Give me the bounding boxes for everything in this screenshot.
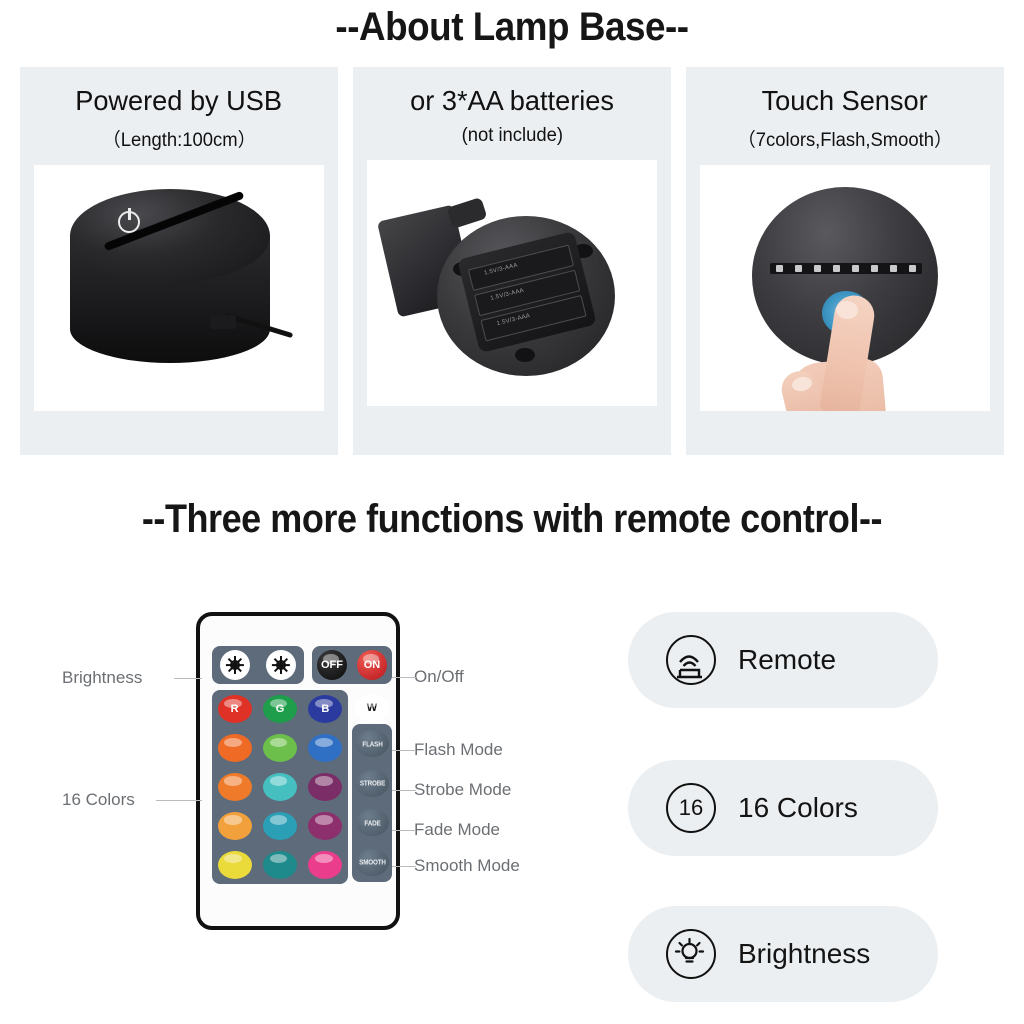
brightness-down-icon xyxy=(276,660,286,670)
color-button-green[interactable]: G xyxy=(263,695,297,723)
smooth-mode-label: SMOOTH xyxy=(358,858,386,867)
color-button-light-green[interactable] xyxy=(263,734,297,762)
brightness-up-button[interactable] xyxy=(220,650,250,680)
leader-line-16-colors xyxy=(156,800,202,801)
feature-label: Remote xyxy=(738,644,836,676)
leader-line-strobe-mode xyxy=(392,790,416,791)
color-button-magenta-dark[interactable] xyxy=(308,812,342,840)
led-dot xyxy=(833,265,840,272)
rubber-foot xyxy=(515,348,535,362)
feature-pill-remote[interactable]: Remote xyxy=(628,612,938,708)
power-symbol-icon xyxy=(118,211,140,233)
feature-pill-16-colors[interactable]: 16 16 Colors xyxy=(628,760,938,856)
strobe-mode-label: STROBE xyxy=(358,779,386,788)
battery-slot-label: 1.5V/3-AAA xyxy=(496,313,531,327)
panel-subtitle: （7colors,Flash,Smooth） xyxy=(737,125,952,152)
callout-on-off: On/Off xyxy=(414,667,464,687)
panel-title: or 3*AA batteries xyxy=(410,85,614,117)
led-dot xyxy=(871,265,878,272)
lamp-base-battery-photo: 1.5V/3-AAA 1.5V/3-AAA 1.5V/3-AAA xyxy=(367,160,657,406)
on-button[interactable]: ON xyxy=(357,650,387,680)
on-button-label: ON xyxy=(357,659,387,671)
callout-brightness: Brightness xyxy=(62,668,142,688)
callout-flash-mode: Flash Mode xyxy=(414,740,503,760)
led-dot xyxy=(852,265,859,272)
led-dot xyxy=(814,265,821,272)
panel-powered-by-usb: Powered by USB （Length:100cm） xyxy=(20,67,338,455)
panel-title: Touch Sensor xyxy=(762,85,928,117)
color-button-label: B xyxy=(308,703,342,715)
battery-slot-label: 1.5V/3-AAA xyxy=(484,263,519,277)
panel-title: Powered by USB xyxy=(76,85,283,117)
color-button-amber[interactable] xyxy=(218,812,252,840)
bulb-icon xyxy=(666,929,716,979)
feature-label: Brightness xyxy=(738,938,870,970)
led-strip xyxy=(770,263,922,274)
panel-subtitle: （Length:100cm） xyxy=(102,125,256,152)
color-button-label: G xyxy=(263,703,297,715)
color-button-white[interactable]: W xyxy=(355,694,389,722)
feature-pill-brightness[interactable]: Brightness xyxy=(628,906,938,1002)
page-title-three-functions: --Three more functions with remote contr… xyxy=(51,495,973,543)
usb-plug xyxy=(210,315,236,329)
power-button-group: OFF ON xyxy=(312,646,392,684)
leader-line-brightness xyxy=(174,678,202,679)
color-button-blue[interactable]: B xyxy=(308,695,342,723)
brightness-up-icon xyxy=(230,660,240,670)
feature-label: 16 Colors xyxy=(738,792,858,824)
color-button-label: W xyxy=(355,702,389,714)
color-button-teal[interactable] xyxy=(263,851,297,879)
battery-slot-label: 1.5V/3-AAA xyxy=(490,288,525,302)
battery-cover-tab xyxy=(446,197,487,229)
callout-smooth-mode: Smooth Mode xyxy=(414,856,520,876)
panel-aa-batteries: or 3*AA batteries (not include) 1.5V/3-A… xyxy=(353,67,671,455)
led-dot xyxy=(795,265,802,272)
color-button-pink[interactable] xyxy=(308,851,342,879)
sixteen-circle-icon: 16 xyxy=(666,783,716,833)
smooth-mode-button[interactable]: SMOOTH xyxy=(356,849,389,876)
leader-line-on-off xyxy=(392,677,416,678)
color-button-turquoise[interactable] xyxy=(263,773,297,801)
lamp-base-usb-photo xyxy=(34,165,324,411)
callout-16-colors: 16 Colors xyxy=(62,790,135,810)
page-title-about-lamp-base: --About Lamp Base-- xyxy=(41,4,983,50)
panel-subtitle: (not include) xyxy=(461,125,562,147)
callout-fade-mode: Fade Mode xyxy=(414,820,500,840)
panel-touch-sensor: Touch Sensor （7colors,Flash,Smooth） xyxy=(686,67,1004,455)
brightness-down-button[interactable] xyxy=(266,650,296,680)
color-button-purple[interactable] xyxy=(308,773,342,801)
mode-button-group: FLASH STROBE FADE SMOOTH xyxy=(352,724,392,882)
strobe-mode-button[interactable]: STROBE xyxy=(356,770,389,797)
callout-strobe-mode: Strobe Mode xyxy=(414,780,511,800)
leader-line-smooth-mode xyxy=(392,866,416,867)
off-button-label: OFF xyxy=(317,659,347,671)
color-button-label: R xyxy=(218,703,252,715)
led-dot xyxy=(890,265,897,272)
sixteen-badge-text: 16 xyxy=(679,795,703,821)
leader-line-fade-mode xyxy=(392,830,416,831)
led-dot xyxy=(909,265,916,272)
remote-signal-icon xyxy=(666,635,716,685)
color-button-group: R G B xyxy=(212,690,348,884)
lamp-base-feature-panels: Powered by USB （Length:100cm） or 3*AA ba… xyxy=(20,67,1004,455)
off-button[interactable]: OFF xyxy=(317,650,347,680)
remote-control[interactable]: OFF ON R G B W FLASH STROBE FADE SMOOTH xyxy=(196,612,400,930)
fade-mode-button[interactable]: FADE xyxy=(356,809,389,836)
color-button-dark-orange[interactable] xyxy=(218,773,252,801)
fade-mode-label: FADE xyxy=(358,818,386,827)
brightness-button-group xyxy=(212,646,304,684)
color-button-red[interactable]: R xyxy=(218,695,252,723)
color-button-yellow[interactable] xyxy=(218,851,252,879)
flash-mode-label: FLASH xyxy=(358,739,386,748)
leader-line-flash-mode xyxy=(392,750,416,751)
lamp-base-touch-photo xyxy=(700,165,990,411)
flash-mode-button[interactable]: FLASH xyxy=(356,730,389,757)
led-dot xyxy=(776,265,783,272)
color-button-medium-blue[interactable] xyxy=(308,734,342,762)
lamp-base-top-surface xyxy=(70,189,270,283)
color-button-orange[interactable] xyxy=(218,734,252,762)
color-button-cyan[interactable] xyxy=(263,812,297,840)
